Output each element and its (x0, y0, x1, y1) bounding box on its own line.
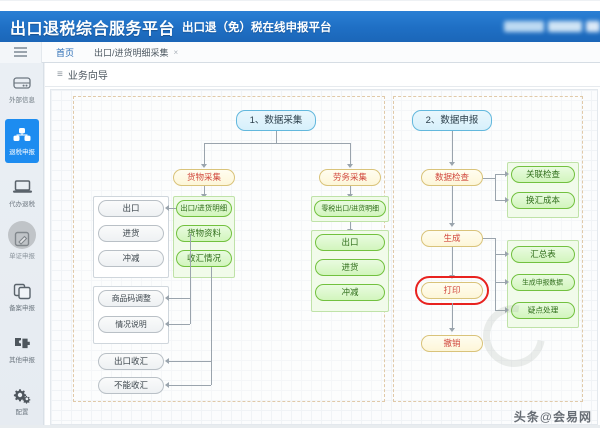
connector (483, 238, 495, 239)
node-revoke-label: 撤销 (443, 339, 460, 348)
connector (204, 143, 205, 164)
sidebar: 外部信息 退税申报 (0, 63, 44, 428)
node-detail-deduction[interactable]: 冲减 (98, 250, 164, 267)
sidebar-item-document-declare-label: 单证申报 (9, 251, 35, 260)
arrow-icon (165, 382, 169, 388)
account-company-blurred (548, 21, 582, 32)
connector (276, 131, 277, 143)
node-export-import-detail[interactable]: 出口/进货明细 (176, 200, 232, 217)
arrow-icon (505, 171, 509, 177)
node-service-collection[interactable]: 劳务采集 (319, 169, 381, 186)
node-export-receipt[interactable]: 出口收汇 (98, 353, 164, 370)
sidebar-item-config[interactable]: 配置 (0, 375, 44, 427)
node-goods-collection-label: 货物采集 (187, 173, 221, 182)
node-summary-table-label: 汇总表 (530, 250, 556, 259)
connector (483, 178, 495, 179)
sidebar-item-record-declare-label: 备案申报 (9, 303, 35, 312)
pen-edit-icon (11, 230, 33, 249)
node-data-check[interactable]: 数据检查 (421, 169, 483, 186)
database-icon (11, 74, 33, 93)
node-export-import-detail-label: 出口/进货明细 (181, 205, 228, 212)
node-stage-data-collection[interactable]: 1、数据采集 (236, 110, 316, 131)
arrow-icon (449, 223, 455, 227)
sidebar-item-document-declare[interactable]: 单证申报 (0, 219, 44, 271)
node-detail-import-label: 进货 (122, 229, 139, 238)
arrow-icon (347, 164, 353, 168)
connector (452, 303, 453, 329)
sidebar-item-other-declare-label: 其他申报 (9, 355, 35, 364)
node-export-receipt-label: 出口收汇 (114, 357, 148, 366)
node-generate-declare-data[interactable]: 生成申报数据 (511, 274, 575, 291)
node-goods-collection[interactable]: 货物采集 (173, 169, 235, 186)
brand-subtitle: 出口退（免）税在线申报平台 (182, 19, 332, 35)
connector (452, 131, 453, 163)
sidebar-item-config-label: 配置 (16, 407, 29, 416)
sidebar-item-agent-refund[interactable]: 代办退税 (0, 167, 44, 219)
arrow-icon (449, 275, 455, 279)
arrow-icon (165, 205, 169, 211)
node-service-export[interactable]: 出口 (315, 234, 385, 251)
tab-home[interactable]: 首页 (42, 42, 84, 63)
node-data-check-label: 数据检查 (435, 173, 469, 182)
node-goods-material-label: 货物资料 (187, 229, 221, 238)
connector (452, 186, 453, 224)
copy-icon (11, 282, 33, 301)
node-zero-tax-export-import-detail-label: 零税出口/进货明细 (321, 205, 379, 212)
node-exchange-cost[interactable]: 换汇成本 (511, 192, 575, 209)
app-header: 出口退税综合服务平台 出口退（免）税在线申报平台 (0, 10, 600, 42)
node-service-import[interactable]: 进货 (315, 259, 385, 276)
node-association-check[interactable]: 关联检查 (511, 166, 575, 183)
node-stage-data-collection-label: 1、数据采集 (250, 116, 303, 126)
account-area-masked[interactable] (480, 17, 600, 35)
node-service-import-label: 进货 (341, 263, 358, 272)
sidebar-item-agent-refund-label: 代办退税 (9, 199, 35, 208)
connector (169, 361, 211, 362)
tab-bar: 首页 出口/进货明细采集 × (0, 42, 600, 63)
connector (169, 208, 176, 209)
node-print[interactable]: 打印 (421, 282, 483, 299)
app-window: 出口退税综合服务平台 出口退（免）税在线申报平台 首页 出口/进货明细采集 × (0, 0, 600, 428)
arrow-icon (505, 251, 509, 257)
node-detail-export-label: 出口 (122, 204, 139, 213)
connector (495, 174, 496, 201)
tab-home-label: 首页 (56, 46, 74, 59)
arrow-icon (165, 295, 169, 301)
cubes-icon (11, 126, 33, 145)
arrow-icon (165, 358, 169, 364)
watermark-at: @ (540, 410, 553, 424)
main-content: ≡ 业务向导 1、数据采集 2、数据申报 货物采集 (45, 63, 600, 428)
node-generate-label: 生成 (443, 234, 460, 243)
node-goods-material[interactable]: 货物资料 (176, 225, 232, 242)
sidebar-item-other-declare[interactable]: 其他申报 (0, 323, 44, 375)
connector (350, 143, 351, 164)
tab-export-import-detail-label: 出口/进货明细采集 (94, 46, 169, 59)
connector (169, 324, 190, 325)
arrow-icon (505, 279, 509, 285)
arrow-icon (201, 164, 207, 168)
node-service-deduction-label: 冲减 (341, 288, 358, 297)
watermark: 头条@会易网 (514, 408, 592, 425)
panel-marker-icon: ≡ (57, 70, 63, 80)
node-zero-tax-export-import-detail[interactable]: 零税出口/进货明细 (314, 200, 386, 217)
node-detail-import[interactable]: 进货 (98, 225, 164, 242)
node-cannot-receive-label: 不能收汇 (114, 381, 148, 390)
node-generate-declare-data-label: 生成申报数据 (523, 279, 564, 286)
connector (169, 298, 190, 299)
node-service-collection-label: 劳务采集 (333, 173, 367, 182)
account-name-blurred (504, 21, 544, 32)
brand-title: 出口退税综合服务平台 (10, 15, 175, 39)
node-association-check-label: 关联检查 (526, 170, 560, 179)
node-commodity-code-adjust[interactable]: 商品码调整 (98, 290, 164, 307)
node-stage-data-declaration-label: 2、数据申报 (426, 116, 479, 126)
node-revoke[interactable]: 撤销 (421, 335, 483, 352)
arrow-icon (449, 162, 455, 166)
node-print-label: 打印 (443, 286, 460, 295)
panel-header: ≡ 业务向导 (45, 63, 600, 87)
arrow-icon (165, 321, 169, 327)
node-service-export-label: 出口 (341, 238, 358, 247)
page-title: 业务向导 (68, 67, 108, 82)
flowchart-canvas: 1、数据采集 2、数据申报 货物采集 劳务采集 (50, 89, 598, 425)
laptop-icon (11, 178, 33, 197)
connector (211, 267, 212, 385)
node-situation-explanation[interactable]: 情况说明 (98, 316, 164, 333)
node-receipt-status-label: 收汇情况 (187, 254, 221, 263)
connector (190, 234, 191, 324)
connector (452, 247, 453, 276)
node-generate[interactable]: 生成 (421, 230, 483, 247)
node-stage-data-declaration[interactable]: 2、数据申报 (412, 110, 492, 131)
arrow-icon (505, 197, 509, 203)
sidebar-item-record-declare[interactable]: 备案申报 (0, 271, 44, 323)
watermark-prefix: 头条 (514, 410, 540, 424)
sidebar-item-external-info[interactable]: 外部信息 (0, 63, 44, 115)
node-commodity-code-adjust-label: 商品码调整 (111, 295, 150, 303)
header-top-spacer (0, 1, 600, 11)
arrow-icon (449, 328, 455, 332)
sidebar-item-external-info-label: 外部信息 (9, 95, 35, 104)
puzzle-icon (11, 334, 33, 353)
watermark-site: 会易网 (553, 410, 592, 424)
node-situation-explanation-label: 情况说明 (115, 321, 146, 329)
hamburger-icon[interactable] (0, 42, 42, 63)
node-detail-deduction-label: 冲减 (122, 254, 139, 263)
close-icon[interactable]: × (174, 48, 179, 57)
node-receipt-status[interactable]: 收汇情况 (176, 250, 232, 267)
node-cannot-receive[interactable]: 不能收汇 (98, 377, 164, 394)
node-summary-table[interactable]: 汇总表 (511, 246, 575, 263)
sidebar-item-tax-refund-declare[interactable]: 退税申报 (0, 115, 44, 167)
connector (204, 143, 350, 144)
node-detail-export[interactable]: 出口 (98, 200, 164, 217)
node-service-deduction[interactable]: 冲减 (315, 284, 385, 301)
connector (169, 385, 211, 386)
connector (495, 238, 496, 311)
sidebar-item-tax-refund-declare-label: 退税申报 (9, 147, 35, 156)
account-menu-blurred (586, 21, 600, 32)
tab-export-import-detail[interactable]: 出口/进货明细采集 × (84, 42, 188, 63)
gears-icon (11, 386, 33, 405)
node-exchange-cost-label: 换汇成本 (526, 196, 560, 205)
